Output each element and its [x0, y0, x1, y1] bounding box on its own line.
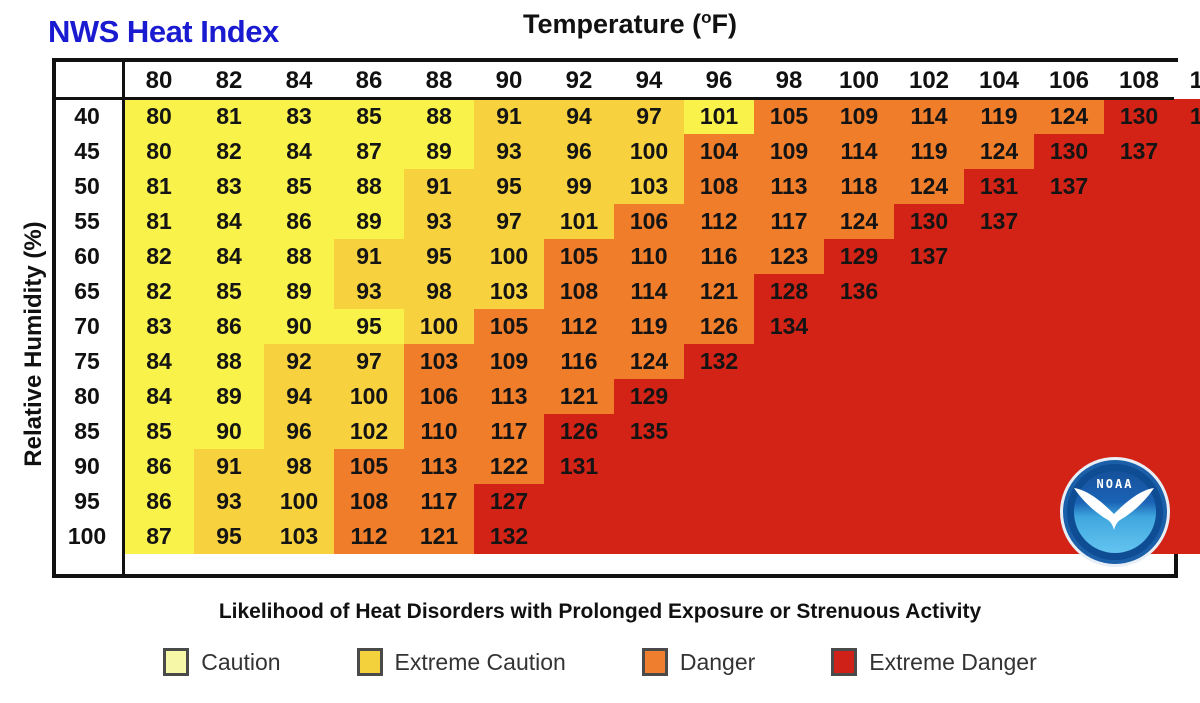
heat-cell: 97	[614, 99, 684, 134]
heat-cell: 124	[614, 344, 684, 379]
legend-label: Extreme Caution	[395, 649, 566, 676]
row-header-rh-60: 60	[56, 239, 124, 274]
heat-cell-empty	[894, 309, 964, 344]
legend-swatch-icon	[831, 648, 857, 676]
heat-cell: 137	[1104, 134, 1174, 169]
heat-cell-empty	[1104, 309, 1174, 344]
table-row: 4580828487899396100104109114119124130137	[56, 134, 1200, 169]
heat-cell: 128	[754, 274, 824, 309]
heat-cell: 130	[1034, 134, 1104, 169]
heat-cell: 112	[684, 204, 754, 239]
heat-cell-empty	[824, 449, 894, 484]
heat-cell: 98	[264, 449, 334, 484]
heat-cell: 96	[264, 414, 334, 449]
heat-cell: 129	[824, 239, 894, 274]
heat-cell: 102	[334, 414, 404, 449]
heat-cell-empty	[1104, 274, 1174, 309]
heat-cell: 85	[334, 99, 404, 134]
heat-cell: 97	[474, 204, 544, 239]
heat-cell: 119	[614, 309, 684, 344]
col-header-temp-88: 88	[404, 62, 474, 99]
table-row: 7083869095100105112119126134	[56, 309, 1200, 344]
heat-cell: 87	[334, 134, 404, 169]
table-row: 90869198105113122131	[56, 449, 1200, 484]
heat-cell: 90	[194, 414, 264, 449]
heat-cell: 108	[544, 274, 614, 309]
heat-cell: 83	[194, 169, 264, 204]
heat-cell-empty	[614, 484, 684, 519]
heat-cell-empty	[964, 274, 1034, 309]
legend-swatch-icon	[163, 648, 189, 676]
heat-cell: 105	[544, 239, 614, 274]
heat-cell: 86	[124, 484, 194, 519]
heat-cell: 80	[124, 134, 194, 169]
heat-cell: 126	[544, 414, 614, 449]
heat-cell-empty	[964, 519, 1034, 554]
heat-cell-empty	[754, 379, 824, 414]
table-row: 958693100108117127	[56, 484, 1200, 519]
legend: CautionExtreme CautionDangerExtreme Dang…	[0, 648, 1200, 676]
heat-cell: 124	[1034, 99, 1104, 134]
heat-cell: 137	[964, 204, 1034, 239]
heat-cell-empty	[1174, 239, 1200, 274]
col-header-temp-86: 86	[334, 62, 404, 99]
heat-cell: 113	[474, 379, 544, 414]
heat-cell: 103	[474, 274, 544, 309]
heat-cell: 132	[474, 519, 544, 554]
heat-cell-empty	[1174, 204, 1200, 239]
legend-label: Extreme Danger	[869, 649, 1036, 676]
heat-cell: 89	[404, 134, 474, 169]
heat-cell-empty	[544, 519, 614, 554]
heat-cell: 131	[544, 449, 614, 484]
heat-cell: 114	[614, 274, 684, 309]
heat-cell: 118	[824, 169, 894, 204]
heat-cell-empty	[824, 379, 894, 414]
heat-cell: 130	[1104, 99, 1174, 134]
heat-cell-empty	[964, 344, 1034, 379]
legend-item: Danger	[642, 648, 755, 676]
x-axis-title: Temperature (oF)	[0, 8, 1200, 40]
heat-cell: 113	[404, 449, 474, 484]
heat-cell: 93	[404, 204, 474, 239]
heat-cell: 121	[404, 519, 474, 554]
col-header-temp-106: 106	[1034, 62, 1104, 99]
heat-cell-empty	[894, 414, 964, 449]
heat-cell: 86	[194, 309, 264, 344]
heat-cell: 84	[124, 379, 194, 414]
row-header-rh-100: 100	[56, 519, 124, 554]
heat-cell: 117	[474, 414, 544, 449]
heat-cell: 84	[124, 344, 194, 379]
heat-cell-empty	[684, 484, 754, 519]
heat-cell: 126	[684, 309, 754, 344]
heat-cell-empty	[614, 449, 684, 484]
heat-cell: 121	[684, 274, 754, 309]
heat-cell: 88	[264, 239, 334, 274]
heat-cell: 103	[404, 344, 474, 379]
heat-cell-empty	[1174, 344, 1200, 379]
heat-cell: 99	[544, 169, 614, 204]
col-header-temp-82: 82	[194, 62, 264, 99]
heat-cell: 100	[474, 239, 544, 274]
row-header-rh-75: 75	[56, 344, 124, 379]
heat-cell-empty	[824, 309, 894, 344]
heat-cell: 91	[474, 99, 544, 134]
heat-cell: 134	[754, 309, 824, 344]
table-header-row: 80828486889092949698100102104106108110	[56, 62, 1200, 99]
heat-cell-empty	[1034, 274, 1104, 309]
col-header-temp-104: 104	[964, 62, 1034, 99]
heat-cell-empty	[1034, 414, 1104, 449]
heat-cell-empty	[824, 519, 894, 554]
heat-cell: 110	[404, 414, 474, 449]
heat-cell: 114	[824, 134, 894, 169]
heat-cell: 90	[264, 309, 334, 344]
heat-cell-empty	[754, 519, 824, 554]
heat-cell: 91	[334, 239, 404, 274]
heat-cell: 82	[124, 239, 194, 274]
legend-label: Danger	[680, 649, 755, 676]
heat-cell-empty	[684, 379, 754, 414]
chart-caption: Likelihood of Heat Disorders with Prolon…	[0, 600, 1200, 624]
heat-cell: 112	[544, 309, 614, 344]
heat-cell-empty	[544, 484, 614, 519]
heat-cell-empty	[1174, 134, 1200, 169]
heat-cell: 109	[754, 134, 824, 169]
noaa-logo: NOAA	[1063, 460, 1167, 564]
table-row: 608284889195100105110116123129137	[56, 239, 1200, 274]
heat-index-table: 80828486889092949698100102104106108110 4…	[56, 62, 1200, 554]
heat-cell: 84	[194, 204, 264, 239]
heat-cell-empty	[1034, 344, 1104, 379]
heat-cell: 117	[754, 204, 824, 239]
heat-cell: 88	[404, 99, 474, 134]
table-row: 4080818385889194971011051091141191241301…	[56, 99, 1200, 134]
heat-cell: 112	[334, 519, 404, 554]
row-header-rh-80: 80	[56, 379, 124, 414]
col-header-temp-110: 110	[1174, 62, 1200, 99]
heat-cell: 119	[964, 99, 1034, 134]
heat-cell-empty	[1034, 239, 1104, 274]
heat-cell-empty	[754, 449, 824, 484]
heat-cell: 109	[824, 99, 894, 134]
table-row: 658285899398103108114121128136	[56, 274, 1200, 309]
heat-cell-empty	[1104, 344, 1174, 379]
heat-cell: 130	[894, 204, 964, 239]
heat-cell: 127	[474, 484, 544, 519]
row-header-rh-90: 90	[56, 449, 124, 484]
heat-cell: 124	[894, 169, 964, 204]
x-axis-unit: F)	[711, 9, 736, 39]
legend-label: Caution	[201, 649, 280, 676]
noaa-seagull-icon	[1072, 484, 1158, 532]
heat-cell: 100	[404, 309, 474, 344]
heat-cell: 100	[264, 484, 334, 519]
col-header-temp-98: 98	[754, 62, 824, 99]
table-row: 1008795103112121132	[56, 519, 1200, 554]
heat-cell: 85	[194, 274, 264, 309]
col-header-temp-100: 100	[824, 62, 894, 99]
heat-cell: 129	[614, 379, 684, 414]
legend-item: Extreme Caution	[357, 648, 566, 676]
heat-cell: 81	[124, 204, 194, 239]
heat-cell: 136	[824, 274, 894, 309]
row-header-rh-65: 65	[56, 274, 124, 309]
heat-cell: 137	[894, 239, 964, 274]
heat-cell-empty	[1104, 169, 1174, 204]
heat-cell: 91	[194, 449, 264, 484]
heat-cell-empty	[754, 414, 824, 449]
heat-index-chart: NWS Heat Index Temperature (oF) Relative…	[0, 0, 1200, 703]
heat-cell: 124	[964, 134, 1034, 169]
row-label-divider-rule	[122, 62, 125, 578]
row-header-rh-45: 45	[56, 134, 124, 169]
y-axis-title: Relative Humidity (%)	[20, 134, 48, 554]
heat-cell: 105	[474, 309, 544, 344]
heat-cell: 108	[334, 484, 404, 519]
heat-cell: 82	[194, 134, 264, 169]
table-corner-cell	[56, 62, 124, 99]
heat-cell: 88	[334, 169, 404, 204]
heat-cell-empty	[964, 239, 1034, 274]
heat-cell-empty	[684, 414, 754, 449]
row-header-rh-70: 70	[56, 309, 124, 344]
heat-cell: 83	[264, 99, 334, 134]
heat-cell: 101	[544, 204, 614, 239]
row-header-rh-85: 85	[56, 414, 124, 449]
heat-cell: 89	[334, 204, 404, 239]
heat-cell-empty	[614, 519, 684, 554]
heat-cell-empty	[894, 274, 964, 309]
heat-cell: 84	[194, 239, 264, 274]
heat-cell: 103	[614, 169, 684, 204]
table-row: 7584889297103109116124132	[56, 344, 1200, 379]
heat-cell-empty	[1034, 379, 1104, 414]
noaa-logo-text: NOAA	[1063, 477, 1167, 491]
heat-cell-empty	[1174, 484, 1200, 519]
heat-cell-empty	[754, 344, 824, 379]
legend-swatch-icon	[357, 648, 383, 676]
heat-cell: 137	[1034, 169, 1104, 204]
heat-cell-empty	[1104, 204, 1174, 239]
heat-cell-empty	[754, 484, 824, 519]
heat-cell: 114	[894, 99, 964, 134]
heat-cell-empty	[684, 449, 754, 484]
heat-cell: 85	[124, 414, 194, 449]
heat-cell-empty	[894, 379, 964, 414]
heat-cell-empty	[824, 414, 894, 449]
heat-cell: 93	[194, 484, 264, 519]
heat-cell-empty	[1174, 414, 1200, 449]
heat-cell: 94	[544, 99, 614, 134]
heat-cell: 89	[264, 274, 334, 309]
heat-cell: 87	[124, 519, 194, 554]
heat-cell: 95	[194, 519, 264, 554]
heat-cell-empty	[894, 344, 964, 379]
heat-cell: 100	[614, 134, 684, 169]
heat-cell: 119	[894, 134, 964, 169]
heat-cell: 105	[754, 99, 824, 134]
heat-cell-empty	[894, 449, 964, 484]
heat-cell: 97	[334, 344, 404, 379]
heat-cell: 136	[1174, 99, 1200, 134]
heat-cell: 109	[474, 344, 544, 379]
heat-cell-empty	[1174, 309, 1200, 344]
col-header-temp-90: 90	[474, 62, 544, 99]
heat-cell: 131	[964, 169, 1034, 204]
heat-cell: 89	[194, 379, 264, 414]
heat-cell: 106	[404, 379, 474, 414]
heat-cell-empty	[1104, 239, 1174, 274]
heat-cell-empty	[824, 484, 894, 519]
heat-cell: 91	[404, 169, 474, 204]
heat-cell: 122	[474, 449, 544, 484]
heat-cell: 86	[124, 449, 194, 484]
heat-cell-empty	[684, 519, 754, 554]
col-header-temp-80: 80	[124, 62, 194, 99]
table-row: 5081838588919599103108113118124131137	[56, 169, 1200, 204]
heat-cell: 98	[404, 274, 474, 309]
heat-cell: 93	[474, 134, 544, 169]
row-header-rh-40: 40	[56, 99, 124, 134]
legend-item: Extreme Danger	[831, 648, 1036, 676]
heat-cell: 93	[334, 274, 404, 309]
heat-cell: 106	[614, 204, 684, 239]
table-row: 55818486899397101106112117124130137	[56, 204, 1200, 239]
col-header-temp-94: 94	[614, 62, 684, 99]
col-header-temp-92: 92	[544, 62, 614, 99]
heat-cell-empty	[1034, 309, 1104, 344]
heat-cell: 117	[404, 484, 474, 519]
heat-cell: 96	[544, 134, 614, 169]
heat-cell: 101	[684, 99, 754, 134]
heat-cell-empty	[964, 449, 1034, 484]
heat-cell-empty	[1174, 519, 1200, 554]
table-body: 4080818385889194971011051091141191241301…	[56, 99, 1200, 554]
heat-cell-empty	[1174, 169, 1200, 204]
heat-cell: 132	[684, 344, 754, 379]
heat-cell: 110	[614, 239, 684, 274]
table-row: 85859096102110117126135	[56, 414, 1200, 449]
heat-cell: 123	[754, 239, 824, 274]
col-header-temp-108: 108	[1104, 62, 1174, 99]
heat-cell: 85	[264, 169, 334, 204]
heat-cell: 104	[684, 134, 754, 169]
heat-cell: 81	[124, 169, 194, 204]
heat-cell: 108	[684, 169, 754, 204]
heat-cell: 100	[334, 379, 404, 414]
heat-cell: 113	[754, 169, 824, 204]
heat-cell: 121	[544, 379, 614, 414]
col-header-temp-84: 84	[264, 62, 334, 99]
heat-cell-empty	[1174, 274, 1200, 309]
heat-cell: 88	[194, 344, 264, 379]
heat-cell: 135	[614, 414, 684, 449]
heat-cell: 86	[264, 204, 334, 239]
row-header-rh-55: 55	[56, 204, 124, 239]
x-axis-title-text: Temperature (	[523, 9, 701, 39]
legend-item: Caution	[163, 648, 280, 676]
heat-cell-empty	[1034, 204, 1104, 239]
col-header-temp-102: 102	[894, 62, 964, 99]
heat-cell-empty	[894, 484, 964, 519]
row-header-rh-50: 50	[56, 169, 124, 204]
heat-cell-empty	[964, 309, 1034, 344]
heat-cell: 105	[334, 449, 404, 484]
heat-cell-empty	[1104, 414, 1174, 449]
heat-cell: 95	[334, 309, 404, 344]
col-header-temp-96: 96	[684, 62, 754, 99]
heat-cell: 116	[684, 239, 754, 274]
legend-swatch-icon	[642, 648, 668, 676]
heat-cell: 83	[124, 309, 194, 344]
heat-cell-empty	[894, 519, 964, 554]
heat-cell: 95	[474, 169, 544, 204]
degree-symbol: o	[701, 8, 711, 27]
heat-cell: 103	[264, 519, 334, 554]
heat-cell: 82	[124, 274, 194, 309]
row-header-rh-95: 95	[56, 484, 124, 519]
heat-cell-empty	[1104, 379, 1174, 414]
heat-cell-empty	[964, 484, 1034, 519]
heat-cell-empty	[1174, 379, 1200, 414]
heat-cell-empty	[824, 344, 894, 379]
heat-cell: 124	[824, 204, 894, 239]
heat-cell: 95	[404, 239, 474, 274]
table-row: 80848994100106113121129	[56, 379, 1200, 414]
heat-cell: 94	[264, 379, 334, 414]
heat-cell-empty	[964, 414, 1034, 449]
heat-cell: 92	[264, 344, 334, 379]
heat-cell: 116	[544, 344, 614, 379]
heat-cell-empty	[1174, 449, 1200, 484]
heat-cell: 81	[194, 99, 264, 134]
heat-cell: 84	[264, 134, 334, 169]
heat-cell-empty	[964, 379, 1034, 414]
heat-cell: 80	[124, 99, 194, 134]
header-divider-rule	[56, 97, 1174, 100]
